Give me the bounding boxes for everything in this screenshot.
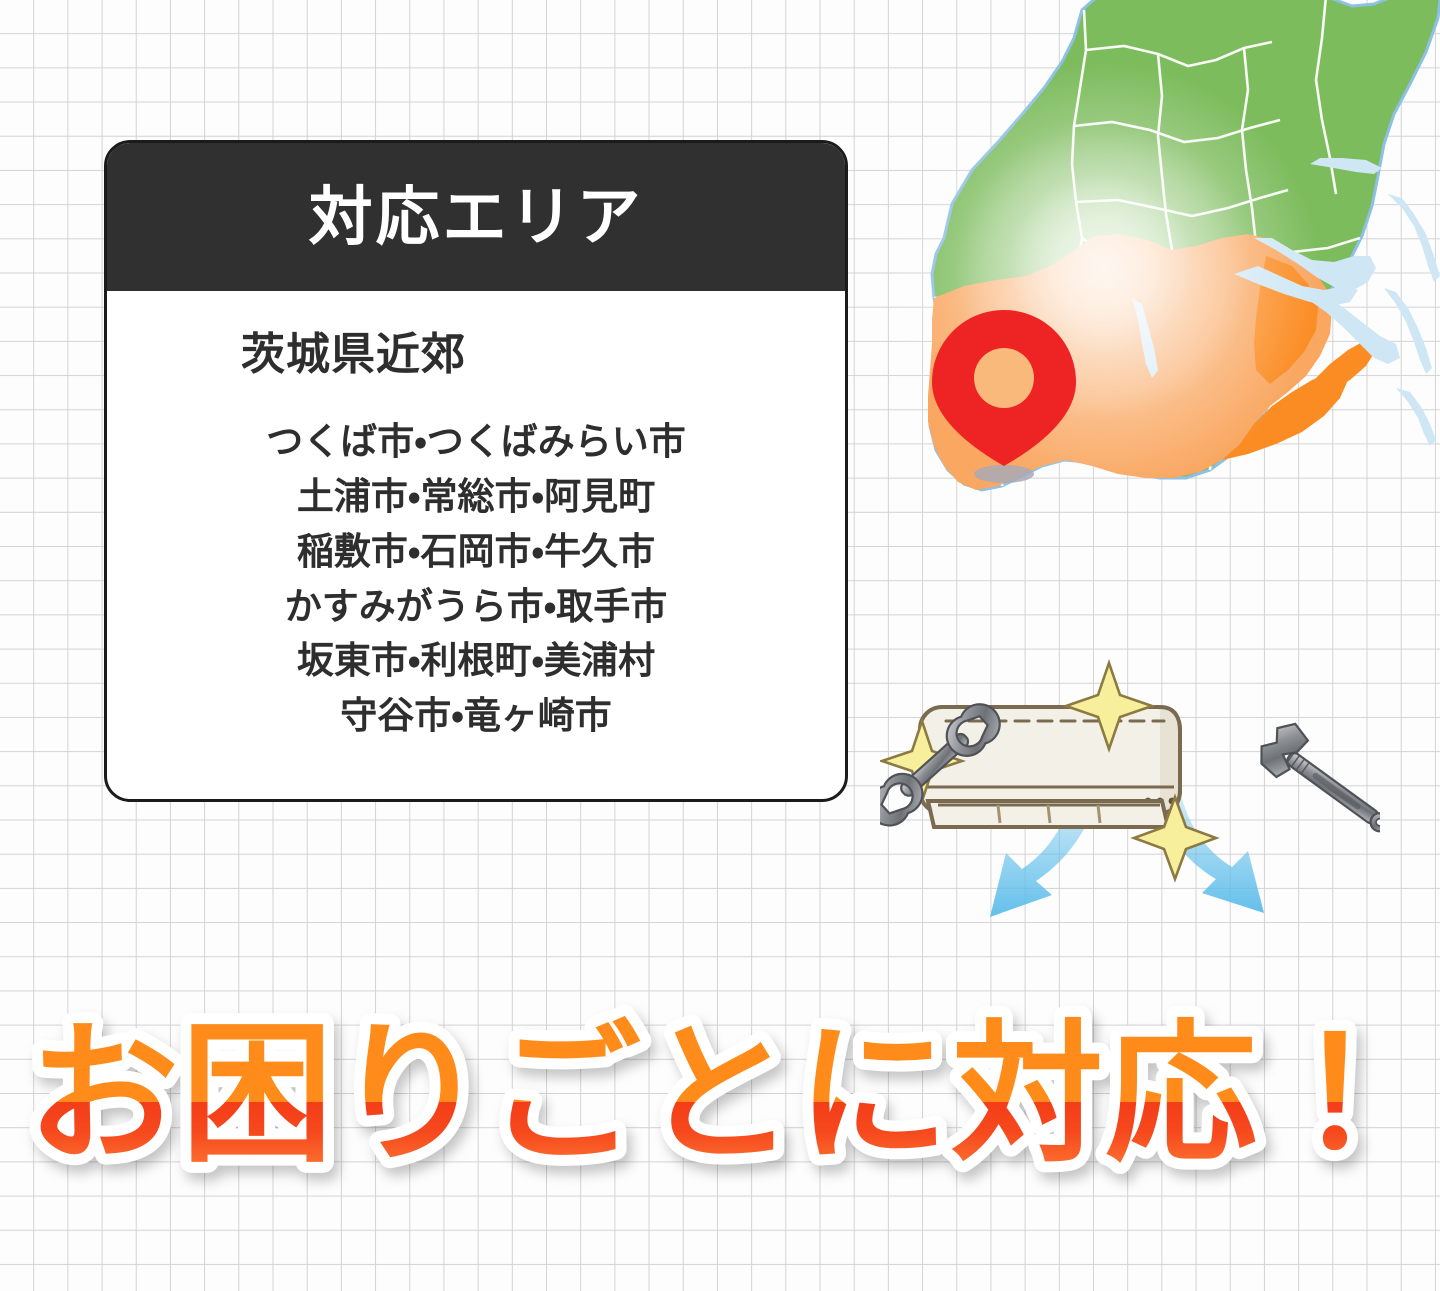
city-line: 稲敷市・石岡市・牛久市 [107,525,845,580]
service-area-card: 対応エリア 茨城県近郊 つくば市・つくばみらい市 土浦市・常総市・阿見町 稲敷市… [104,140,848,802]
map-pin-hole [974,348,1034,408]
city-list: つくば市・つくばみらい市 土浦市・常総市・阿見町 稲敷市・石岡市・牛久市 かすみ… [107,415,845,744]
headline-banner: お困りごとに対応！ [0,995,1440,1195]
ibaraki-coverage-map [836,0,1440,688]
service-area-card-body: 茨城県近郊 つくば市・つくばみらい市 土浦市・常総市・阿見町 稲敷市・石岡市・牛… [107,291,845,744]
air-conditioner-illustration [880,655,1380,985]
page-title: 対応エリア [309,185,644,249]
city-line: 守谷市・竜ヶ崎市 [107,689,845,744]
headline-text: お困りごとに対応！ [27,1010,1413,1180]
headline-svg: お困りごとに対応！ [20,995,1420,1195]
map-svg [836,0,1440,688]
city-line: 坂東市・利根町・美浦村 [107,634,845,689]
map-pin-shadow [974,465,1034,483]
service-area-card-header: 対応エリア [107,143,845,291]
city-line: かすみがうら市・取手市 [107,580,845,635]
city-line: 土浦市・常総市・阿見町 [107,470,845,525]
adjustable-wrench-icon [1252,716,1380,847]
appliance-svg [880,655,1380,985]
city-line: つくば市・つくばみらい市 [107,415,845,470]
region-subtitle: 茨城県近郊 [225,331,845,379]
